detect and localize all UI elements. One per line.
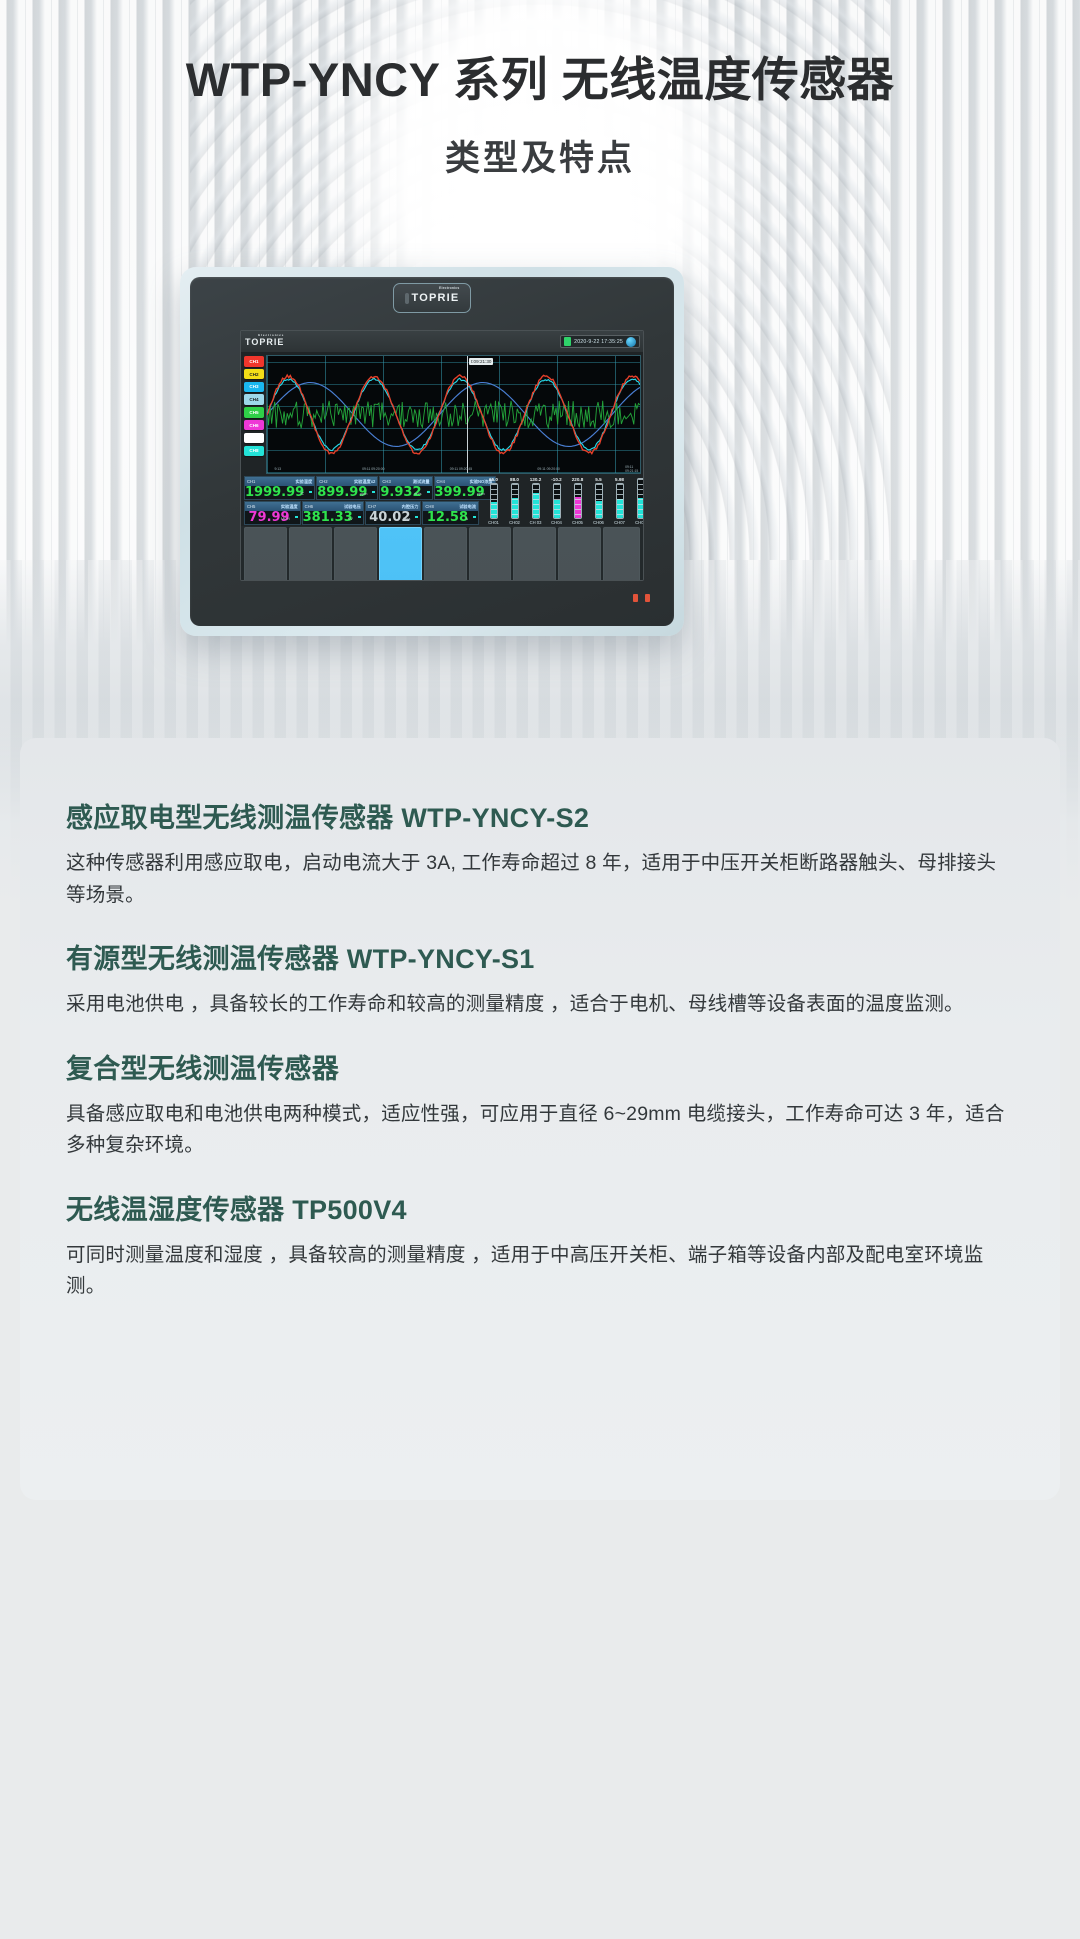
trend-plot[interactable]: t:09:21:30 9:1309:11 09:20:0009:11 09:20… xyxy=(266,355,641,474)
bargraph-ch04: -10.2CH04 xyxy=(546,477,567,525)
features-card: 感应取电型无线测温传感器 WTP-YNCY-S2 这种传感器利用感应取电，启动电… xyxy=(20,738,1060,1500)
device-panel: TOPRIEElectronics TOPRIEElectronics 2020… xyxy=(180,267,684,636)
device-indicator-leds xyxy=(633,594,650,602)
plot-cursor-label: t:09:21:30 xyxy=(469,358,493,365)
hmi-nav-page6/0[interactable]: page6/0 xyxy=(603,527,640,581)
feature-section: 有源型无线测温传感器 WTP-YNCY-S1 采用电池供电 ，具备较长的工作寿命… xyxy=(66,937,1014,1021)
readout-channel: CH7 xyxy=(368,504,376,509)
readout-cell-ch2[interactable]: CH2实验温度x2899.99ppm xyxy=(316,476,378,500)
hmi-nav-报警界面[interactable]: 报警界面 xyxy=(424,527,467,581)
readout-channel: CH5 xyxy=(247,504,255,509)
hmi-nav-显示界面[interactable]: 显示界面 xyxy=(244,527,287,581)
readout-indicator xyxy=(295,516,298,519)
hmi-data-area: CH1实验温度1999.99℃CH2实验温度x2899.99ppmCH3测试流量… xyxy=(241,476,643,526)
channel-chip-ch3[interactable]: CH3 xyxy=(244,382,264,393)
bargraph-ticks xyxy=(617,484,623,518)
status-led-icon xyxy=(564,337,571,346)
hero-title-block: WTP-YNCY 系列 无线温度传感器 类型及特点 xyxy=(0,52,1080,181)
bargraph-ticks xyxy=(512,484,518,518)
feature-section: 无线温湿度传感器 TP500V4 可同时测量温度和湿度 ，具备较高的测量精度 ，… xyxy=(66,1188,1014,1303)
page-subtitle: 类型及特点 xyxy=(0,130,1080,181)
feature-body: 可同时测量温度和湿度 ，具备较高的测量精度 ，适用于中高压开关柜、端子箱等设备内… xyxy=(66,1240,1014,1303)
readout-indicator xyxy=(427,491,430,494)
channel-chip-ch7[interactable] xyxy=(244,433,264,444)
readout-body: 381.33KV xyxy=(303,511,363,524)
x-tick: 09:11 09:21:15 xyxy=(625,465,640,473)
bargraph-ch02: 88.0CH02 xyxy=(504,477,525,525)
readout-grid: CH1实验温度1999.99℃CH2实验温度x2899.99ppmCH3测试流量… xyxy=(244,476,479,525)
readout-unit: ppm xyxy=(477,492,484,496)
readout-body: 399.99ppm xyxy=(435,486,495,499)
network-globe-icon[interactable] xyxy=(626,337,636,347)
led-indicator-2 xyxy=(645,594,650,602)
hmi-titlebar: TOPRIEElectronics 2020-9-22 17:35:25 xyxy=(241,331,643,352)
channel-chip-ch8[interactable]: CH8 xyxy=(244,446,264,457)
feature-section: 复合型无线测温传感器 具备感应取电和电池供电两种模式，适应性强，可应用于直径 6… xyxy=(66,1047,1014,1162)
x-tick: 09:11 09:20:00 xyxy=(537,467,559,471)
device-logo-tab: TOPRIEElectronics xyxy=(393,283,471,313)
readout-body: 12.58A xyxy=(423,511,478,524)
bargraph-tube xyxy=(595,483,603,519)
readout-indicator xyxy=(372,491,375,494)
readout-name: 实验温度 xyxy=(295,479,312,485)
readout-channel: CH1 xyxy=(247,479,255,484)
bargraph-value: 130.2 xyxy=(530,477,542,482)
readout-unit: ℃ xyxy=(300,491,304,496)
channel-chip-ch5[interactable]: CH5 xyxy=(244,407,264,418)
hmi-nav-综合界面[interactable]: 综合界面 xyxy=(379,527,422,581)
feature-heading: 有源型无线测温传感器 WTP-YNCY-S1 xyxy=(66,937,1014,976)
hmi-datetime: 2020-9-22 17:35:25 xyxy=(574,339,623,345)
bargraph-label: CH05 xyxy=(572,520,583,525)
readout-channel: CH2 xyxy=(319,479,327,484)
bargraph-tube xyxy=(616,483,624,519)
bargraph-value: 65.0 xyxy=(489,477,498,482)
readout-indicator xyxy=(415,516,418,519)
readout-body: 79.99MCH xyxy=(245,511,300,524)
readout-cell-ch5[interactable]: CH5实验温度79.99MCH xyxy=(244,501,301,525)
readout-name: 内腔压力 xyxy=(402,504,419,510)
feature-body: 具备感应取电和电池供电两种模式，适应性强，可应用于直径 6~29mm 电缆接头，… xyxy=(66,1099,1014,1162)
hmi-screen[interactable]: TOPRIEElectronics 2020-9-22 17:35:25 CH1… xyxy=(240,330,644,581)
channel-chip-ch6[interactable]: CH6 xyxy=(244,420,264,431)
readout-name: 试验电流 xyxy=(459,504,476,510)
readout-channel: CH6 xyxy=(305,504,313,509)
readout-name: 实验温度x2 xyxy=(354,479,375,485)
readout-body: 899.99ppm xyxy=(317,486,377,499)
readout-channel: CH3 xyxy=(382,479,390,484)
readout-unit: m³/s xyxy=(414,492,421,496)
readout-name: 实验温度 xyxy=(281,504,298,510)
bargraph-ch08: CH08 xyxy=(630,477,644,525)
readout-row-1: CH1实验温度1999.99℃CH2实验温度x2899.99ppmCH3测试流量… xyxy=(244,476,479,500)
bargraph-label: CH08 xyxy=(635,520,644,525)
readout-unit: KV xyxy=(348,517,353,521)
page-root: WTP-YNCY 系列 无线温度传感器 类型及特点 TOPRIEElectron… xyxy=(0,0,1080,1939)
bargraph-ticks xyxy=(596,484,602,518)
hmi-nav-棒图[interactable]: 棒图 xyxy=(289,527,332,581)
bargraph-value: 5.5 xyxy=(595,477,601,482)
bargraph-value: 220.8 xyxy=(572,477,584,482)
page-title: WTP-YNCY 系列 无线温度传感器 xyxy=(0,52,1080,108)
readout-unit: Mpa xyxy=(403,517,410,521)
readout-unit: A xyxy=(465,517,468,521)
bargraph-label: CH02 xyxy=(509,520,520,525)
bargraph-tube xyxy=(490,483,498,519)
readout-name: 试验电压 xyxy=(344,504,361,510)
feature-heading: 复合型无线测温传感器 xyxy=(66,1047,1014,1086)
device-brand-sup: Electronics xyxy=(439,286,459,290)
readout-value: 381.33 xyxy=(303,511,353,524)
readout-indicator xyxy=(473,516,476,519)
bargraph-label: CH01 xyxy=(488,520,499,525)
bargraph-ticks xyxy=(554,484,560,518)
hmi-chart-area: CH1CH2CH3CH4CH5CH6CH8 t:09:21:30 9:1309:… xyxy=(241,352,643,476)
feature-heading: 无线温湿度传感器 TP500V4 xyxy=(66,1188,1014,1227)
readout-unit: MCH xyxy=(281,517,290,521)
feature-body: 这种传感器利用感应取电，启动电流大于 3A, 工作寿命超过 8 年，适用于中压开… xyxy=(66,848,1014,911)
readout-cell-ch8[interactable]: CH8试验电流12.58A xyxy=(422,501,479,525)
bargraph-tube xyxy=(574,483,582,519)
bargraph-ch01: 65.0CH01 xyxy=(483,477,504,525)
readout-indicator xyxy=(358,516,361,519)
hmi-nav-曲线[interactable]: 曲线 xyxy=(334,527,377,581)
channel-legend: CH1CH2CH3CH4CH5CH6CH8 xyxy=(244,355,264,474)
readout-body: 40.02Mpa xyxy=(366,511,421,524)
bargraph-tube xyxy=(511,483,519,519)
hmi-nav-参数设置[interactable]: 参数设置 xyxy=(469,527,512,581)
plot-traces xyxy=(267,356,640,473)
feature-section: 感应取电型无线测温传感器 WTP-YNCY-S2 这种传感器利用感应取电，启动电… xyxy=(66,796,1014,911)
readout-cell-ch3[interactable]: CH3测试流量9.932m³/s xyxy=(379,476,432,500)
bargraph-ch03: 130.2CH 03 xyxy=(525,477,546,525)
bargraph-ticks xyxy=(533,484,539,518)
hmi-nav-bar: 显示界面棒图曲线综合界面报警界面参数设置系统设置数据导出page6/0 xyxy=(241,526,643,581)
bargraph-group: 65.0CH0188.0CH02130.2CH 03-10.2CH04220.8… xyxy=(481,476,644,525)
bargraph-ch07: 5.98CH07 xyxy=(609,477,630,525)
readout-indicator xyxy=(309,491,312,494)
device-bezel: TOPRIEElectronics TOPRIEElectronics 2020… xyxy=(190,277,674,626)
bargraph-ticks xyxy=(638,479,644,518)
channel-chip-ch2[interactable]: CH2 xyxy=(244,369,264,380)
bargraph-value: 5.98 xyxy=(615,477,624,482)
bargraph-ticks xyxy=(491,484,497,518)
channel-chip-ch4[interactable]: CH4 xyxy=(244,394,264,405)
readout-cell-ch1[interactable]: CH1实验温度1999.99℃ xyxy=(244,476,315,500)
bargraph-tube xyxy=(532,483,540,519)
bargraph-tube xyxy=(637,478,645,519)
feature-body: 采用电池供电 ，具备较长的工作寿命和较高的测量精度 ，适合于电机、母线槽等设备表… xyxy=(66,989,1014,1021)
readout-cell-ch6[interactable]: CH6试验电压381.33KV xyxy=(302,501,364,525)
readout-channel: CH4 xyxy=(437,479,445,484)
hmi-brand-label: TOPRIEElectronics xyxy=(245,337,284,347)
bargraph-label: CH06 xyxy=(593,520,604,525)
channel-chip-ch1[interactable]: CH1 xyxy=(244,356,264,367)
readout-unit: ppm xyxy=(360,492,367,496)
readout-value: 12.58 xyxy=(427,511,468,524)
x-tick: 09:11 09:20:45 xyxy=(450,467,472,471)
plot-x-axis: 9:1309:11 09:20:0009:11 09:20:4509:11 09… xyxy=(267,464,640,473)
bargraph-value: -10.2 xyxy=(551,477,561,482)
bargraph-label: CH07 xyxy=(614,520,625,525)
readout-channel: CH8 xyxy=(425,504,433,509)
bargraph-label: CH 03 xyxy=(530,520,542,525)
x-tick: 9:13 xyxy=(274,467,281,471)
x-tick: 09:11 09:20:00 xyxy=(362,467,384,471)
hmi-nav-数据导出[interactable]: 数据导出 xyxy=(558,527,601,581)
feature-heading: 感应取电型无线测温传感器 WTP-YNCY-S2 xyxy=(66,796,1014,835)
bargraph-label: CH04 xyxy=(551,520,562,525)
plot-cursor[interactable] xyxy=(467,356,468,473)
camera-icon xyxy=(405,293,409,304)
readout-body: 9.932m³/s xyxy=(380,486,431,499)
readout-row-2: CH5实验温度79.99MCHCH6试验电压381.33KVCH7内腔压力40.… xyxy=(244,501,479,525)
bargraph-ch05: 220.8CH05 xyxy=(567,477,588,525)
bargraph-ch06: 5.5CH06 xyxy=(588,477,609,525)
device-brand-label: TOPRIEElectronics xyxy=(412,292,460,304)
bargraph-ticks xyxy=(575,484,581,518)
readout-name: 测试流量 xyxy=(413,479,430,485)
hmi-nav-系统设置[interactable]: 系统设置 xyxy=(513,527,556,581)
bargraph-value: 88.0 xyxy=(510,477,519,482)
bargraph-tube xyxy=(553,483,561,519)
readout-cell-ch7[interactable]: CH7内腔压力40.02Mpa xyxy=(365,501,422,525)
readout-body: 1999.99℃ xyxy=(245,486,314,499)
readout-value: 1999.99 xyxy=(245,486,304,499)
led-indicator-1 xyxy=(633,594,638,602)
hmi-status-bar: 2020-9-22 17:35:25 xyxy=(560,335,640,348)
